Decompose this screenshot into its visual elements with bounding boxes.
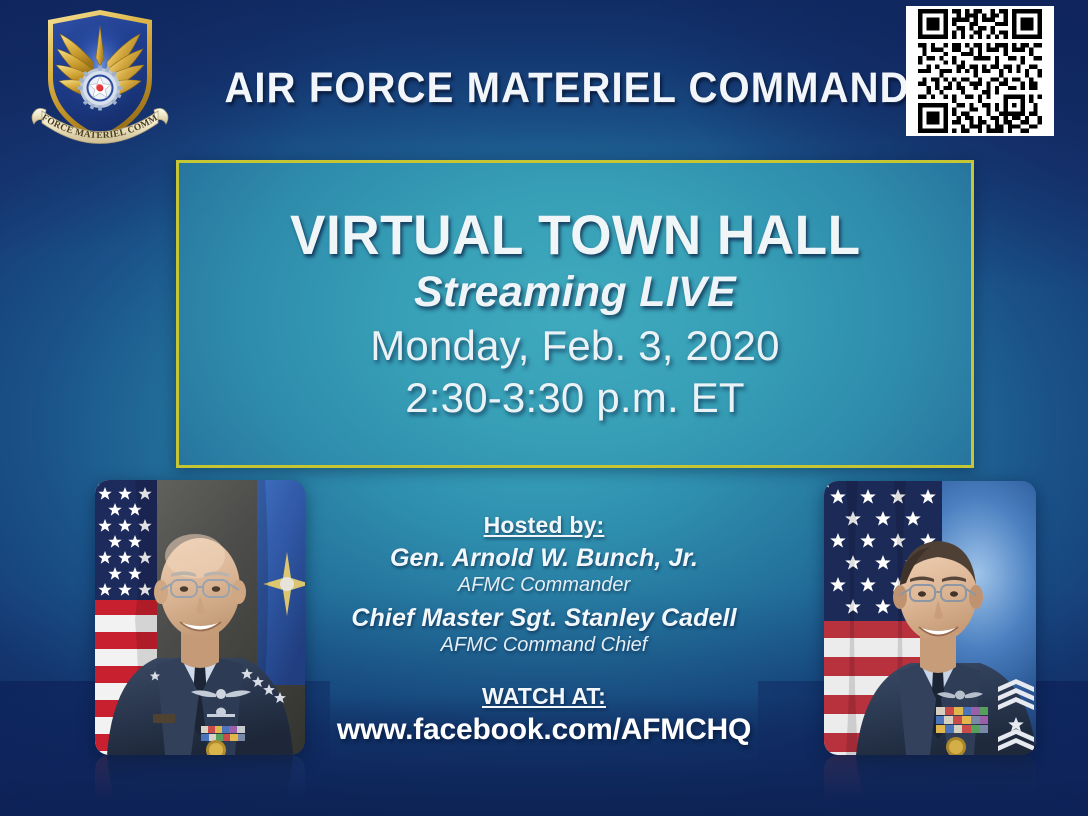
poster-canvas: AIR FORCE MATERIEL COMMAND AIR FORCE MAT…: [0, 0, 1088, 816]
watch-url-link[interactable]: www.facebook.com/AFMCHQ: [337, 713, 751, 747]
hosted-by-label: Hosted by:: [484, 512, 605, 539]
host-title-command-chief: AFMC Command Chief: [441, 634, 648, 657]
event-title: VIRTUAL TOWN HALL: [290, 205, 861, 264]
host-info-block: Hosted by: Gen. Arnold W. Bunch, Jr. AFM…: [294, 512, 794, 747]
event-subtitle: Streaming LIVE: [414, 269, 736, 316]
host-name-commander: Gen. Arnold W. Bunch, Jr.: [390, 544, 698, 573]
page-title: AIR FORCE MATERIEL COMMAND: [255, 62, 878, 114]
event-title-panel: VIRTUAL TOWN HALL Streaming LIVE Monday,…: [176, 160, 974, 468]
watch-at-label: WATCH AT:: [482, 683, 606, 710]
portrait-cmsgt-cadell: [824, 481, 1036, 755]
host-name-command-chief: Chief Master Sgt. Stanley Cadell: [351, 604, 736, 633]
afmc-shield-emblem-icon: AIR FORCE MATERIEL COMMAND: [24, 6, 176, 154]
portrait-gen-bunch: [95, 480, 305, 755]
event-time: 2:30-3:30 p.m. ET: [405, 372, 745, 423]
host-title-commander: AFMC Commander: [458, 574, 630, 597]
qr-code-icon[interactable]: [906, 6, 1054, 136]
event-date: Monday, Feb. 3, 2020: [370, 320, 779, 371]
